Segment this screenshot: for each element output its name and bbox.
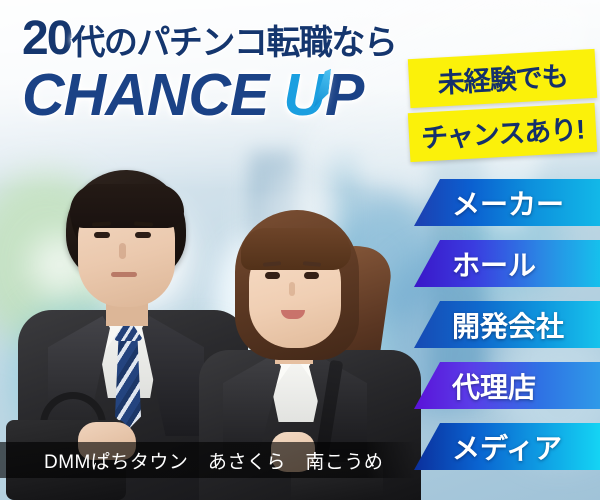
woman-eye-left xyxy=(265,272,280,279)
category-banner-development-company[interactable]: 開発会社 xyxy=(414,301,600,348)
category-label-hall: ホール xyxy=(452,244,536,284)
headline-block: 20代のパチンコ転職なら CHANCEUP xyxy=(22,14,396,125)
badge-no-experience: 未経験でも xyxy=(408,49,598,108)
logo-letter-p: P xyxy=(325,62,363,128)
man-eye-right xyxy=(135,232,151,238)
logo-word-chance: CHANCE xyxy=(22,62,268,128)
ad-banner[interactable]: 20代のパチンコ転職なら CHANCEUP 未経験でも チャンスあり! メーカー… xyxy=(0,0,600,500)
headline-tagline: 20代のパチンコ転職なら xyxy=(22,14,396,64)
category-banner-hall[interactable]: ホール xyxy=(414,240,600,287)
man-eye-left xyxy=(94,232,110,238)
man-nose xyxy=(119,243,126,259)
category-banner-agency[interactable]: 代理店 xyxy=(414,362,600,409)
credit-caption-text: DMMぱちタウン あさくら 南こうめ xyxy=(44,447,383,474)
category-banner-media[interactable]: メディア xyxy=(414,423,600,470)
category-banner-maker[interactable]: メーカー xyxy=(414,179,600,226)
category-label-maker: メーカー xyxy=(452,183,564,223)
headline-number: 20 xyxy=(22,12,71,65)
woman-fringe xyxy=(241,228,351,270)
man-fringe xyxy=(70,184,184,228)
woman-nose xyxy=(289,282,295,296)
category-label-media: メディア xyxy=(452,427,562,467)
category-label-development-company: 開発会社 xyxy=(452,305,564,345)
promo-badges: 未経験でも チャンスあり! xyxy=(409,54,596,157)
credit-caption-bar: DMMぱちタウン あさくら 南こうめ xyxy=(0,442,416,478)
man-striped-tie xyxy=(115,334,141,430)
category-label-agency: 代理店 xyxy=(452,366,536,406)
badge-chance-available: チャンスあり! xyxy=(408,103,598,162)
man-mouth xyxy=(111,272,137,277)
chance-up-logo: CHANCEUP xyxy=(22,66,396,125)
headline-suffix: 代のパチンコ転職なら xyxy=(71,24,396,62)
category-banner-list: メーカー ホール 開発会社 代理店 メディア xyxy=(414,179,600,470)
woman-eye-right xyxy=(304,272,319,279)
logo-letter-u: U xyxy=(283,66,325,125)
